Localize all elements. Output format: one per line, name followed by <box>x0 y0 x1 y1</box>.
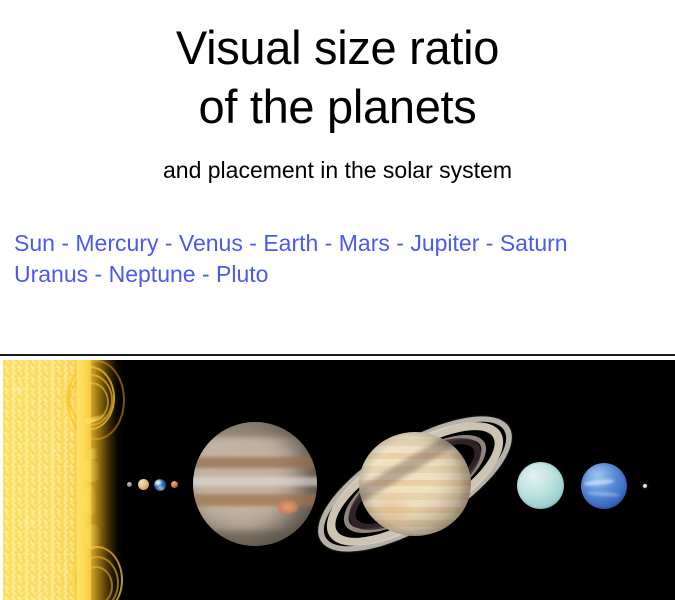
jupiter-zone <box>193 477 317 487</box>
space-background <box>3 360 675 600</box>
link-separator: - <box>243 230 263 256</box>
page-title: Visual size ratio of the planets <box>0 18 675 136</box>
earth-body <box>154 479 166 491</box>
link-saturn[interactable]: Saturn <box>500 230 568 256</box>
link-earth[interactable]: Earth <box>263 230 318 256</box>
jupiter-south-polar-region <box>193 531 317 546</box>
planet-link-line-1: Sun - Mercury - Venus - Earth - Mars - J… <box>14 228 568 259</box>
planet-link-list: Sun - Mercury - Venus - Earth - Mars - J… <box>14 228 568 290</box>
sun-limb-glow <box>77 360 123 600</box>
venus-body <box>138 479 149 490</box>
pluto-body <box>643 484 647 488</box>
page-title-line-2: of the planets <box>198 80 476 133</box>
link-pluto[interactable]: Pluto <box>216 261 268 287</box>
jupiter-belt <box>193 494 317 506</box>
jupiter-belt <box>193 457 317 468</box>
link-sun[interactable]: Sun <box>14 230 55 256</box>
solar-system-image <box>3 360 675 600</box>
page-title-line-1: Visual size ratio <box>176 21 499 74</box>
link-separator: - <box>318 230 338 256</box>
link-neptune[interactable]: Neptune <box>109 261 196 287</box>
link-separator: - <box>196 261 216 287</box>
link-uranus[interactable]: Uranus <box>14 261 88 287</box>
link-mars[interactable]: Mars <box>339 230 390 256</box>
solar-system-figure-panel <box>0 354 675 600</box>
link-separator: - <box>479 230 499 256</box>
jupiter-great-red-spot <box>277 500 298 514</box>
header: Visual size ratio of the planets and pla… <box>0 0 675 184</box>
uranus-body <box>517 462 564 509</box>
sun-prominence <box>85 524 101 550</box>
link-separator: - <box>88 261 108 287</box>
link-venus[interactable]: Venus <box>179 230 243 256</box>
saturn-body <box>359 432 471 536</box>
sun-prominence <box>83 486 97 516</box>
sun-prominence <box>83 460 101 482</box>
sun-prominence <box>89 448 98 460</box>
planet-link-line-2: Uranus - Neptune - Pluto <box>14 259 568 290</box>
link-separator: - <box>55 230 75 256</box>
jupiter-body <box>193 422 317 546</box>
saturn-system <box>315 374 515 594</box>
mercury-body <box>127 482 132 487</box>
page-subtitle: and placement in the solar system <box>0 136 675 184</box>
mars-body <box>171 481 178 488</box>
link-separator: - <box>390 230 410 256</box>
jupiter-north-polar-region <box>193 422 317 437</box>
neptune-body <box>581 463 627 509</box>
link-separator: - <box>158 230 178 256</box>
link-jupiter[interactable]: Jupiter <box>410 230 479 256</box>
link-mercury[interactable]: Mercury <box>75 230 158 256</box>
saturn-polar-vortex <box>366 490 418 532</box>
